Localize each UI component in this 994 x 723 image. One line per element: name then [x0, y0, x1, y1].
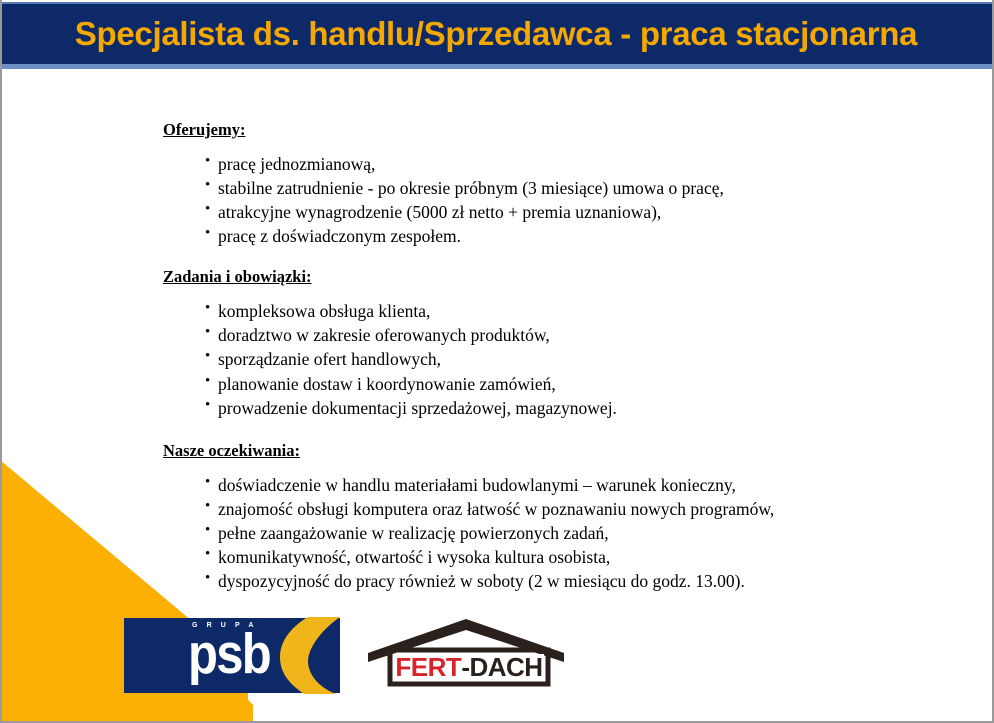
bullet-list-oczekiwania: doświadczenie w handlu materiałami budow…: [163, 473, 863, 594]
section-zadania-i-obowiazki: Zadania i obowiązki: kompleksowa obsługa…: [163, 267, 863, 420]
list-item: pracę z doświadczonym zespołem.: [205, 224, 863, 248]
list-item: atrakcyjne wynagrodzenie (5000 zł netto …: [205, 200, 863, 224]
fert-dach-name-second: -DACH: [461, 652, 542, 683]
bullet-list-zadania: kompleksowa obsługa klienta, doradztwo w…: [163, 299, 863, 420]
list-item: sporządzanie ofert handlowych,: [205, 347, 863, 371]
list-item: pełne zaangażowanie w realizację powierz…: [205, 521, 863, 545]
list-item: doradztwo w zakresie oferowanych produkt…: [205, 323, 863, 347]
section-heading-oferujemy: Oferujemy:: [163, 120, 245, 140]
psb-logo: G R U P A psb: [124, 618, 356, 693]
fert-dach-name-first: FERT: [395, 652, 461, 683]
section-nasze-oczekiwania: Nasze oczekiwania: doświadczenie w handl…: [163, 441, 863, 594]
fert-dach-logo: FERT-DACH: [366, 617, 566, 689]
list-item: kompleksowa obsługa klienta,: [205, 299, 863, 323]
list-item: dyspozycyjność do pracy również w soboty…: [205, 569, 863, 593]
bullet-list-oferujemy: pracę jednozmianową, stabilne zatrudnien…: [163, 152, 863, 249]
list-item: komunikatywność, otwartość i wysoka kult…: [205, 545, 863, 569]
list-item: doświadczenie w handlu materiałami budow…: [205, 473, 863, 497]
list-item: stabilne zatrudnienie - po okresie próbn…: [205, 176, 863, 200]
job-offer-slide: Specjalista ds. handlu/Sprzedawca - prac…: [0, 0, 994, 723]
list-item: znajomość obsługi komputera oraz łatwość…: [205, 497, 863, 521]
page-title: Specjalista ds. handlu/Sprzedawca - prac…: [75, 17, 917, 52]
fert-dach-wordmark: FERT-DACH: [392, 652, 546, 682]
psb-wordmark: psb: [188, 626, 270, 683]
section-heading-oczekiwania: Nasze oczekiwania:: [163, 441, 300, 461]
psb-swoosh-icon: [274, 617, 364, 694]
slide-body-content: Oferujemy: pracę jednozmianową, stabilne…: [163, 120, 863, 593]
section-oferujemy: Oferujemy: pracę jednozmianową, stabilne…: [163, 120, 863, 248]
list-item: pracę jednozmianową,: [205, 152, 863, 176]
list-item: prowadzenie dokumentacji sprzedażowej, m…: [205, 396, 863, 420]
section-heading-zadania: Zadania i obowiązki:: [163, 267, 312, 287]
list-item: planowanie dostaw i koordynowanie zamówi…: [205, 372, 863, 396]
slide-title-banner: Specjalista ds. handlu/Sprzedawca - prac…: [0, 2, 994, 69]
